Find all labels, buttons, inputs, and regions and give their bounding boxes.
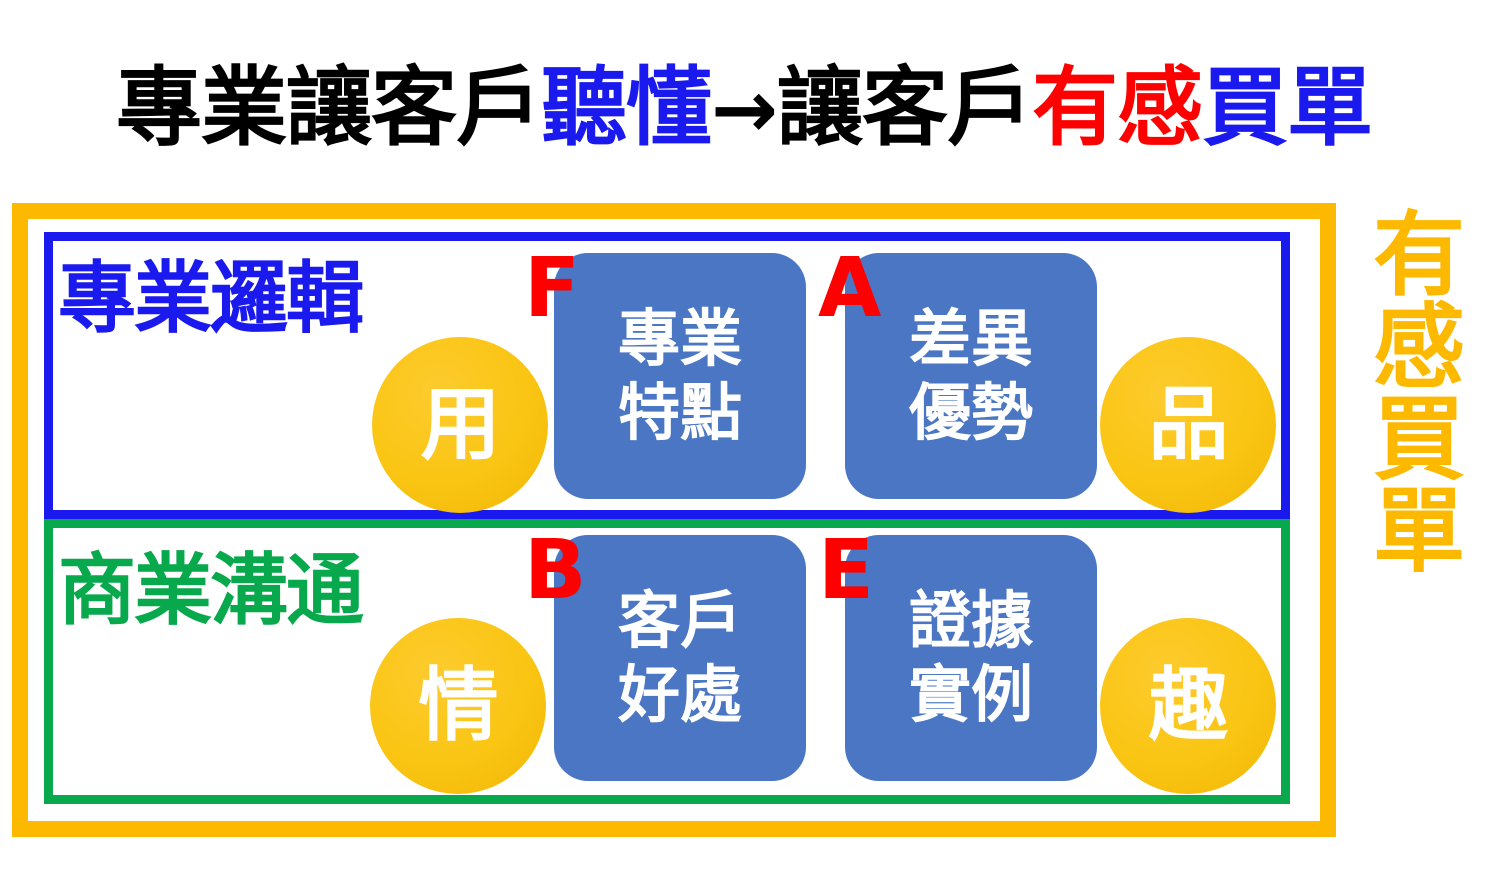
side-label-char-4: 單 — [1364, 486, 1474, 578]
card-feature[interactable]: 專業 特點 — [554, 253, 806, 499]
circle-badge-label: 用 — [421, 385, 500, 465]
circle-badge-product: 品 — [1100, 337, 1276, 513]
title-segment-2: 聽懂 — [541, 58, 711, 158]
row-heading-professional-logic: 專業邏輯 — [58, 256, 362, 342]
card-line-2: 特點 — [618, 376, 742, 450]
side-label-char-2: 感 — [1364, 302, 1474, 394]
title-segment-1: 專業讓客戶 — [116, 58, 541, 158]
card-line-1: 客戶 — [618, 584, 742, 658]
title-segment-3: 讓客戶 — [777, 58, 1032, 158]
letter-label-a: A — [818, 248, 881, 330]
side-label-char-3: 買 — [1364, 394, 1474, 486]
card-line-2: 實例 — [909, 658, 1033, 732]
circle-badge-emotion: 情 — [370, 618, 546, 794]
circle-badge-label: 情 — [419, 666, 498, 746]
letter-label-f: F — [524, 248, 580, 330]
card-evidence[interactable]: 證據 實例 — [845, 535, 1097, 781]
card-advantage[interactable]: 差異 優勢 — [845, 253, 1097, 499]
row-heading-business-communication: 商業溝通 — [58, 548, 362, 634]
title-arrow-icon: → — [711, 63, 777, 156]
card-line-1: 差異 — [909, 302, 1033, 376]
card-line-1: 證據 — [909, 584, 1033, 658]
circle-badge-use: 用 — [372, 337, 548, 513]
page-title: 專業讓客戶聽懂→讓客戶有感買單 — [0, 56, 1488, 162]
circle-badge-interest: 趣 — [1100, 618, 1276, 794]
title-segment-5: 買單 — [1202, 58, 1372, 158]
side-label-char-1: 有 — [1364, 210, 1474, 302]
card-line-2: 優勢 — [909, 376, 1033, 450]
side-label-outcome: 有 感 買 單 — [1364, 210, 1474, 578]
letter-label-b: B — [524, 530, 587, 612]
circle-badge-label: 趣 — [1149, 666, 1228, 746]
slide-canvas: 專業讓客戶聽懂→讓客戶有感買單 專業邏輯 商業溝通 用 品 情 趣 專業 特點 … — [0, 0, 1488, 876]
card-line-1: 專業 — [618, 302, 742, 376]
letter-label-e: E — [818, 530, 874, 612]
circle-badge-label: 品 — [1149, 385, 1228, 465]
title-segment-4: 有感 — [1032, 58, 1202, 158]
card-line-2: 好處 — [618, 658, 742, 732]
card-benefit[interactable]: 客戶 好處 — [554, 535, 806, 781]
